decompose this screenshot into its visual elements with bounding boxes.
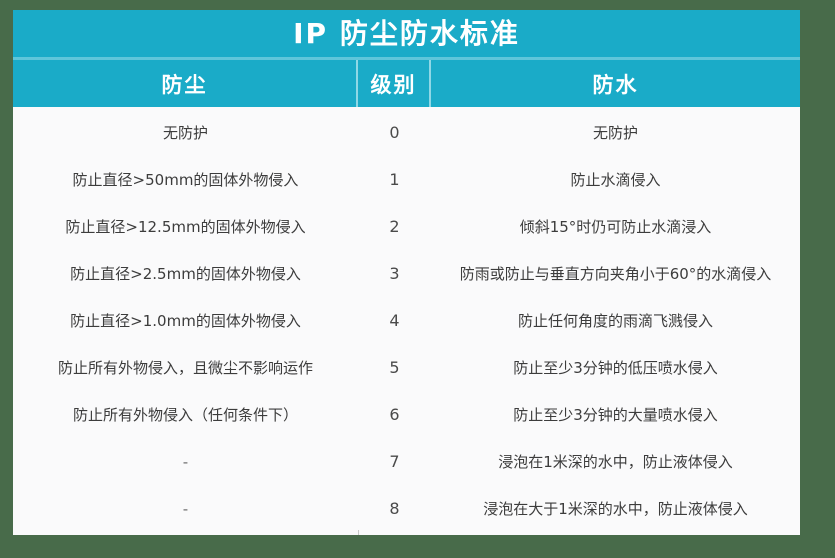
table-body: 无防护 0 无防护 防止直径>50mm的固体外物侵入 1 防止水滴侵入 防止直径… <box>13 107 800 532</box>
cell-water: 无防护 <box>431 122 800 143</box>
table-header-row: 防尘 级别 防水 <box>13 60 800 107</box>
table-row: 防止所有外物侵入（任何条件下） 6 防止至少3分钟的大量喷水侵入 <box>13 391 800 438</box>
cell-water: 防止任何角度的雨滴飞溅侵入 <box>431 310 800 331</box>
table-row: 防止直径>2.5mm的固体外物侵入 3 防雨或防止与垂直方向夹角小于60°的水滴… <box>13 250 800 297</box>
table-row: - 8 浸泡在大于1米深的水中，防止液体侵入 <box>13 485 800 532</box>
cell-level: 6 <box>358 405 431 424</box>
table-title-bar: IP 防尘防水标准 <box>13 10 800 60</box>
cell-level: 8 <box>358 499 431 518</box>
cell-water: 倾斜15°时仍可防止水滴浸入 <box>431 216 800 237</box>
cell-water: 防雨或防止与垂直方向夹角小于60°的水滴侵入 <box>431 263 800 284</box>
cell-dust: 防止所有外物侵入，且微尘不影响运作 <box>13 357 358 378</box>
cell-dust: 防止直径>1.0mm的固体外物侵入 <box>13 310 358 331</box>
cell-level: 4 <box>358 311 431 330</box>
cell-dust: 无防护 <box>13 122 358 143</box>
cell-level: 2 <box>358 217 431 236</box>
cell-level: 1 <box>358 170 431 189</box>
table-row: 防止直径>12.5mm的固体外物侵入 2 倾斜15°时仍可防止水滴浸入 <box>13 203 800 250</box>
cell-dust: 防止直径>2.5mm的固体外物侵入 <box>13 263 358 284</box>
cell-water: 防止至少3分钟的大量喷水侵入 <box>431 404 800 425</box>
cell-level: 3 <box>358 264 431 283</box>
cell-dust: 防止直径>50mm的固体外物侵入 <box>13 169 358 190</box>
cell-water: 浸泡在大于1米深的水中，防止液体侵入 <box>431 498 800 519</box>
cell-level: 5 <box>358 358 431 377</box>
table-row: 防止所有外物侵入，且微尘不影响运作 5 防止至少3分钟的低压喷水侵入 <box>13 344 800 391</box>
cell-water: 浸泡在1米深的水中，防止液体侵入 <box>431 451 800 472</box>
column-header-water: 防水 <box>431 60 800 107</box>
page-title: IP 防尘防水标准 <box>293 20 520 48</box>
table-row: 防止直径>50mm的固体外物侵入 1 防止水滴侵入 <box>13 156 800 203</box>
cell-water: 防止水滴侵入 <box>431 169 800 190</box>
column-header-level: 级别 <box>358 60 431 107</box>
table-row: - 7 浸泡在1米深的水中，防止液体侵入 <box>13 438 800 485</box>
column-divider <box>358 530 359 535</box>
column-header-dust: 防尘 <box>13 60 358 107</box>
cell-water: 防止至少3分钟的低压喷水侵入 <box>431 357 800 378</box>
table-row: 防止直径>1.0mm的固体外物侵入 4 防止任何角度的雨滴飞溅侵入 <box>13 297 800 344</box>
cell-dust: 防止所有外物侵入（任何条件下） <box>13 404 358 425</box>
cell-dust: 防止直径>12.5mm的固体外物侵入 <box>13 216 358 237</box>
cell-level: 7 <box>358 452 431 471</box>
cell-level: 0 <box>358 123 431 142</box>
cell-dust: - <box>13 453 358 471</box>
table-row: 无防护 0 无防护 <box>13 109 800 156</box>
cell-dust: - <box>13 500 358 518</box>
ip-rating-table-card: IP 防尘防水标准 防尘 级别 防水 无防护 0 无防护 防止直径>50mm的固… <box>13 10 800 535</box>
